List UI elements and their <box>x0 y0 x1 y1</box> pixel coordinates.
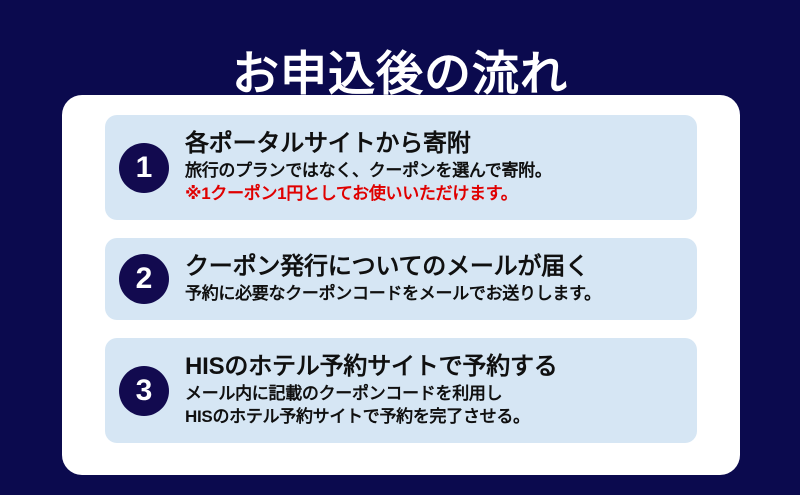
step-note-1-2: ※1クーポン1円としてお使いいただけます。 <box>185 183 685 205</box>
step-number-badge-2: 2 <box>119 254 169 304</box>
step-line-1-1: 旅行のプランではなく、クーポンを選んで寄附。 <box>185 160 685 182</box>
step-title-3: HISのホテル予約サイトで予約する <box>185 353 685 381</box>
step-number-badge-3: 3 <box>119 366 169 416</box>
step-title-2: クーポン発行についてのメールが届く <box>185 253 685 281</box>
step-card-1: 1 各ポータルサイトから寄附 旅行のプランではなく、クーポンを選んで寄附。 ※1… <box>105 115 697 220</box>
step-line-3-1: メール内に記載のクーポンコードを利用し <box>185 383 685 405</box>
step-line-3-2: HISのホテル予約サイトで予約を完了させる。 <box>185 406 685 428</box>
steps-panel: 1 各ポータルサイトから寄附 旅行のプランではなく、クーポンを選んで寄附。 ※1… <box>62 95 740 475</box>
step-line-2-1: 予約に必要なクーポンコードをメールでお送りします。 <box>185 283 685 305</box>
step-body-1: 各ポータルサイトから寄附 旅行のプランではなく、クーポンを選んで寄附。 ※1クー… <box>185 130 685 205</box>
step-card-2: 2 クーポン発行についてのメールが届く 予約に必要なクーポンコードをメールでお送… <box>105 238 697 320</box>
step-body-3: HISのホテル予約サイトで予約する メール内に記載のクーポンコードを利用し HI… <box>185 353 685 428</box>
step-body-2: クーポン発行についてのメールが届く 予約に必要なクーポンコードをメールでお送りし… <box>185 253 685 306</box>
step-number-badge-1: 1 <box>119 143 169 193</box>
step-card-3: 3 HISのホテル予約サイトで予約する メール内に記載のクーポンコードを利用し … <box>105 338 697 443</box>
flow-infographic: お申込後の流れ 1 各ポータルサイトから寄附 旅行のプランではなく、クーポンを選… <box>0 0 800 495</box>
steps-list: 1 各ポータルサイトから寄附 旅行のプランではなく、クーポンを選んで寄附。 ※1… <box>105 115 697 443</box>
step-title-1: 各ポータルサイトから寄附 <box>185 130 685 158</box>
